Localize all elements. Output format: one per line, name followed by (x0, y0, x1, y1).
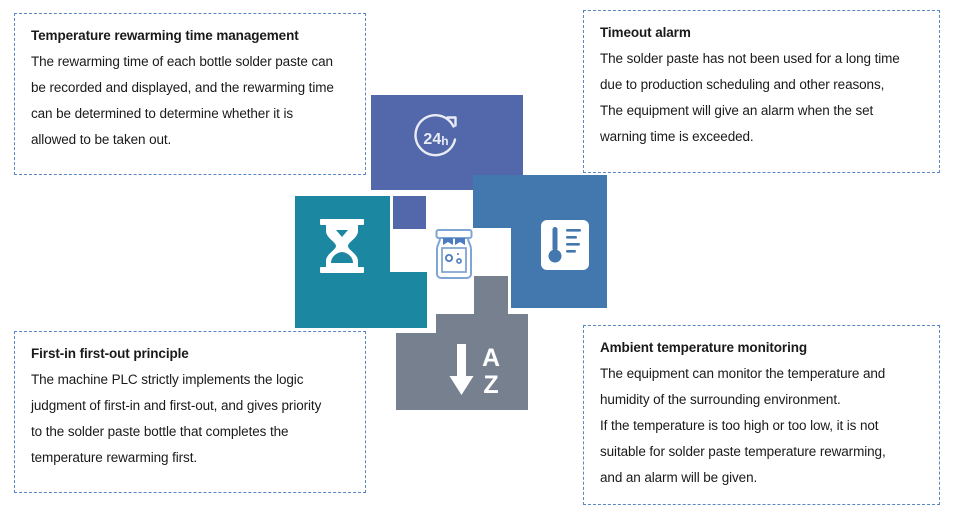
diagram-block-gray-stem (474, 276, 508, 314)
card-body-line: The rewarming time of each bottle solder… (31, 49, 349, 75)
card-title: Timeout alarm (600, 23, 923, 44)
card-title: First-in first-out principle (31, 344, 349, 365)
thermometer-icon (540, 219, 590, 271)
card-body-line: The equipment can monitor the temperatur… (600, 361, 923, 387)
card-body-line: and an alarm will be given. (600, 465, 923, 491)
card-body-line: warning time is exceeded. (600, 124, 923, 150)
card-body-line: be recorded and displayed, and the rewar… (31, 75, 349, 101)
info-card-temperature-rewarming-time-management[interactable]: Temperature rewarming time management Th… (14, 13, 366, 175)
card-body-line: allowed to be taken out. (31, 127, 349, 153)
info-card-first-in-first-out-principle[interactable]: First-in first-out principle The machine… (14, 331, 366, 493)
diagram-block-gray-shoulder (436, 314, 528, 333)
card-body-line: due to production scheduling and other r… (600, 72, 923, 98)
info-card-ambient-temperature-monitoring[interactable]: Ambient temperature monitoring The equip… (583, 325, 940, 505)
card-body-line: suitable for solder paste temperature re… (600, 439, 923, 465)
card-title: Ambient temperature monitoring (600, 338, 923, 359)
diagram-block-purple-tab (393, 196, 426, 229)
sort-letter-a: A (482, 344, 500, 372)
card-body-line: can be determined to determine whether i… (31, 101, 349, 127)
card-body-line: The solder paste has not been used for a… (600, 46, 923, 72)
sort-letter-z: Z (483, 371, 498, 399)
solder-paste-jar-icon (429, 228, 479, 280)
diagram-block-teal-lower[interactable] (295, 272, 427, 328)
info-card-timeout-alarm[interactable]: Timeout alarm The solder paste has not b… (583, 10, 940, 173)
card-body-line: judgment of first-in and first-out, and … (31, 393, 349, 419)
hourglass-icon (316, 218, 368, 274)
card-body-line: The equipment will give an alarm when th… (600, 98, 923, 124)
card-body-line: The machine PLC strictly implements the … (31, 367, 349, 393)
clock-24h-label: 24h (423, 131, 448, 148)
card-body-line: to the solder paste bottle that complete… (31, 419, 349, 445)
card-body-line: If the temperature is too high or too lo… (600, 413, 923, 439)
infographic-stage: 24h (0, 0, 953, 511)
card-body-line: temperature rewarming first. (31, 445, 349, 471)
clock-24h-icon: 24h (406, 106, 468, 168)
card-title: Temperature rewarming time management (31, 26, 349, 47)
sort-a-to-z-icon: A Z (441, 342, 515, 400)
card-body-line: humidity of the surrounding environment. (600, 387, 923, 413)
